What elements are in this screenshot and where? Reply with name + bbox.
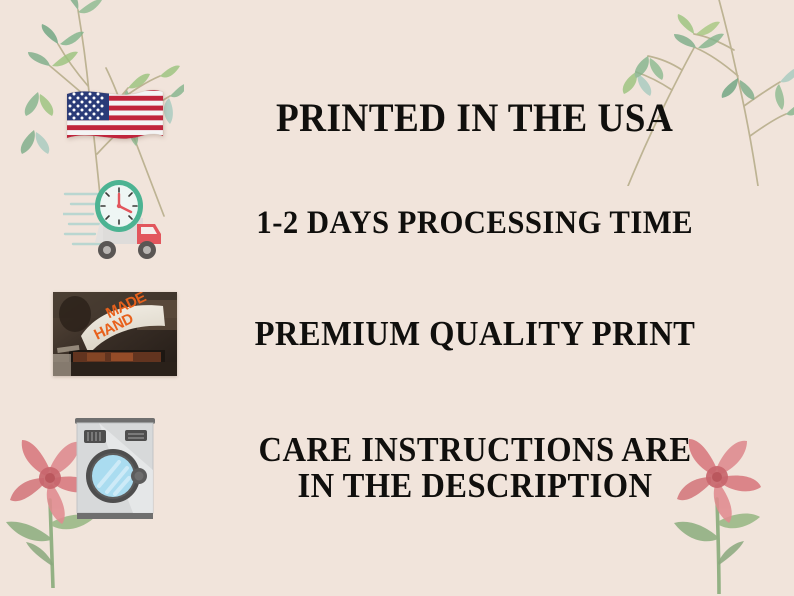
washing-machine-icon: [69, 414, 161, 522]
feature-icon-cell: HAND MADE: [0, 292, 230, 376]
feature-headline-care: CARE INSTRUCTIONS ARE IN THE DESCRIPTION: [256, 432, 693, 503]
infographic-canvas: PRINTED IN THE USA: [0, 0, 794, 596]
fast-delivery-truck-clock-icon: [63, 178, 167, 270]
feature-text-cell: PRINTED IN THE USA: [230, 98, 794, 139]
feature-headline-usa: PRINTED IN THE USA: [276, 98, 673, 139]
feature-headline-care-line-2: IN THE DESCRIPTION: [297, 466, 652, 505]
feature-headline-care-line-1: CARE INSTRUCTIONS ARE: [258, 430, 691, 469]
feature-text-cell: CARE INSTRUCTIONS ARE IN THE DESCRIPTION: [230, 432, 794, 503]
feature-row-quality: HAND MADE: [0, 288, 794, 380]
feature-icon-cell: [0, 414, 230, 522]
feature-icon-cell: [0, 178, 230, 270]
feature-row-usa: PRINTED IN THE USA: [0, 76, 794, 160]
feature-icon-cell: [0, 86, 230, 150]
feature-row-care: CARE INSTRUCTIONS ARE IN THE DESCRIPTION: [0, 408, 794, 528]
screen-printing-photo: HAND MADE: [53, 292, 177, 376]
feature-text-cell: 1-2 DAYS PROCESSING TIME: [230, 207, 794, 241]
feature-text-cell: PREMIUM QUALITY PRINT: [230, 316, 794, 352]
feature-headline-quality: PREMIUM QUALITY PRINT: [255, 316, 696, 352]
feature-headline-processing: 1-2 DAYS PROCESSING TIME: [257, 207, 694, 241]
feature-row-processing: 1-2 DAYS PROCESSING TIME: [0, 178, 794, 270]
us-flag-icon: [65, 86, 165, 150]
